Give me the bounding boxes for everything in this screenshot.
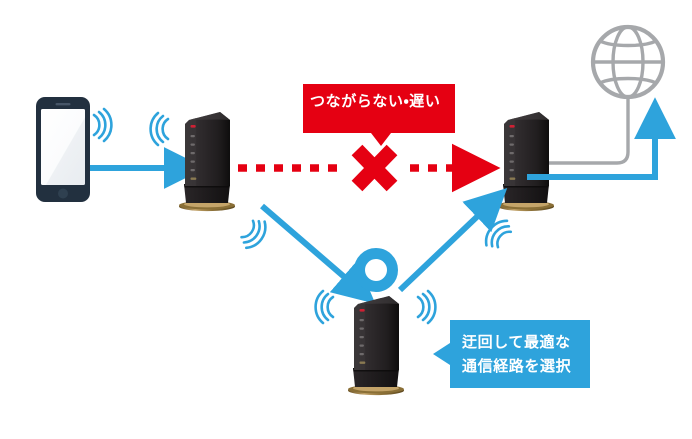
smartphone-icon	[36, 97, 90, 202]
router-remote-icon	[498, 112, 554, 211]
router-main-icon	[179, 112, 235, 211]
wifi-waves-phone	[94, 109, 111, 141]
wifi-waves-detour-left	[238, 216, 271, 252]
wifi-waves-relay-left	[316, 291, 333, 323]
wifi-waves-router-remote	[481, 216, 515, 252]
wifi-waves-router-main	[151, 113, 168, 145]
problem-callout	[303, 84, 455, 146]
solution-callout	[433, 320, 590, 388]
globe-icon	[593, 27, 663, 97]
diagram-svg	[0, 0, 692, 439]
link-main-to-relay	[262, 206, 349, 281]
router-relay-icon	[348, 296, 404, 395]
link-relay-to-remote	[400, 212, 482, 290]
diagram-canvas: つながらない・遅い 迂回して最適な 通信経路を選択	[0, 0, 692, 439]
x-mark-icon	[357, 150, 392, 186]
relay-ring-indicator	[360, 254, 393, 287]
wifi-waves-relay-right	[418, 291, 435, 323]
